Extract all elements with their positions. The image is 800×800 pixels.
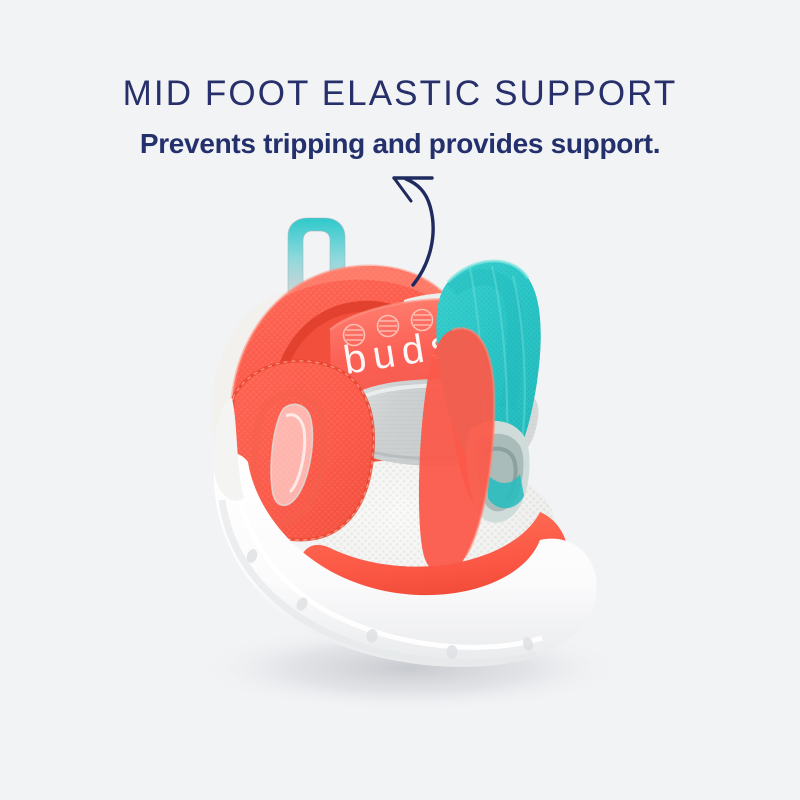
marketing-image-canvas: MID FOOT ELASTIC SUPPORT Prevents trippi… (0, 0, 800, 800)
curved-arrow-icon (370, 160, 500, 300)
product-photo-sneaker: buds (0, 0, 800, 800)
